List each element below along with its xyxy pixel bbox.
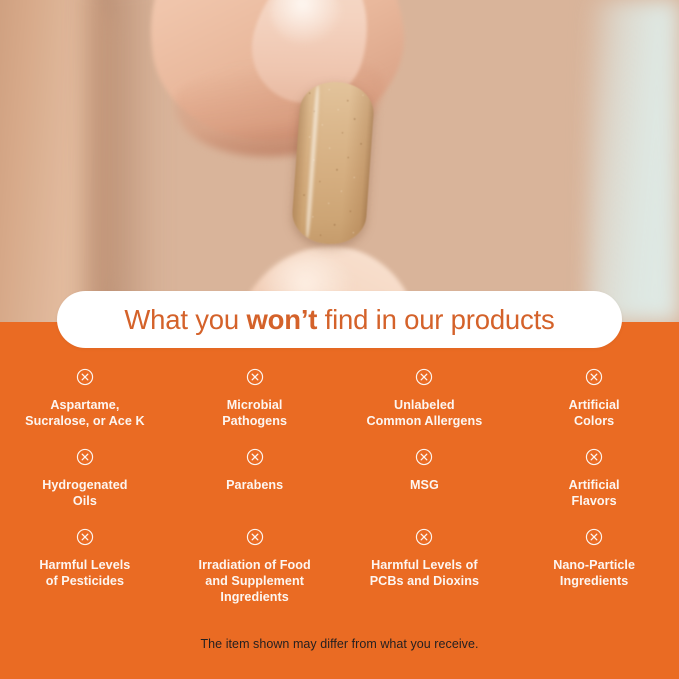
list-item: Irradiation of Food and Supplement Ingre… [170, 528, 340, 610]
grid-row: Harmful Levels of Pesticides Irradiation… [0, 528, 679, 610]
list-item-label: Unlabeled Common Allergens [366, 397, 482, 429]
disclaimer-text: The item shown may differ from what you … [0, 637, 679, 651]
grid-row: Aspartame, Sucralose, or Ace K Microbial… [0, 368, 679, 448]
list-item: Artificial Flavors [509, 448, 679, 528]
circle-x-icon [76, 528, 94, 546]
circle-x-icon [585, 528, 603, 546]
list-item-label: Aspartame, Sucralose, or Ace K [25, 397, 144, 429]
grid-row: Hydrogenated Oils Parabens MSG Artificia… [0, 448, 679, 528]
circle-x-icon [415, 528, 433, 546]
product-photo [0, 0, 679, 322]
list-item: Hydrogenated Oils [0, 448, 170, 528]
list-item-label: Hydrogenated Oils [42, 477, 127, 509]
background-finger-shadow [88, 0, 160, 322]
list-item: Microbial Pathogens [170, 368, 340, 448]
list-item: Parabens [170, 448, 340, 528]
list-item-label: Irradiation of Food and Supplement Ingre… [199, 557, 311, 605]
supplement-tablet [290, 80, 375, 247]
list-item-label: MSG [410, 477, 439, 493]
list-item: Aspartame, Sucralose, or Ace K [0, 368, 170, 448]
headline-pill: What you won’t find in our products [57, 291, 622, 348]
circle-x-icon [585, 368, 603, 386]
circle-x-icon [246, 448, 264, 466]
headline-part-2: find in our products [317, 304, 554, 335]
circle-x-icon [585, 448, 603, 466]
headline-emphasis: won’t [246, 304, 317, 335]
list-item-label: Nano-Particle Ingredients [553, 557, 635, 589]
list-item-label: Microbial Pathogens [222, 397, 287, 429]
circle-x-icon [415, 368, 433, 386]
list-item-label: Harmful Levels of PCBs and Dioxins [370, 557, 479, 589]
headline-part-1: What you [124, 304, 246, 335]
page-title: What you won’t find in our products [124, 306, 554, 334]
circle-x-icon [246, 528, 264, 546]
list-item: Artificial Colors [509, 368, 679, 448]
list-item: Harmful Levels of Pesticides [0, 528, 170, 610]
circle-x-icon [246, 368, 264, 386]
list-item-label: Artificial Flavors [569, 477, 620, 509]
circle-x-icon [76, 448, 94, 466]
circle-x-icon [76, 368, 94, 386]
list-item: MSG [340, 448, 510, 528]
tablet-speckle-texture [290, 80, 375, 247]
photo-teal-edge [587, 0, 679, 322]
list-item-label: Harmful Levels of Pesticides [39, 557, 130, 589]
list-item: Unlabeled Common Allergens [340, 368, 510, 448]
product-claims-infographic: What you won’t find in our products Aspa… [0, 0, 679, 679]
circle-x-icon [415, 448, 433, 466]
list-item: Harmful Levels of PCBs and Dioxins [340, 528, 510, 610]
excluded-ingredients-grid: Aspartame, Sucralose, or Ace K Microbial… [0, 368, 679, 610]
list-item: Nano-Particle Ingredients [509, 528, 679, 610]
list-item-label: Parabens [226, 477, 283, 493]
list-item-label: Artificial Colors [569, 397, 620, 429]
